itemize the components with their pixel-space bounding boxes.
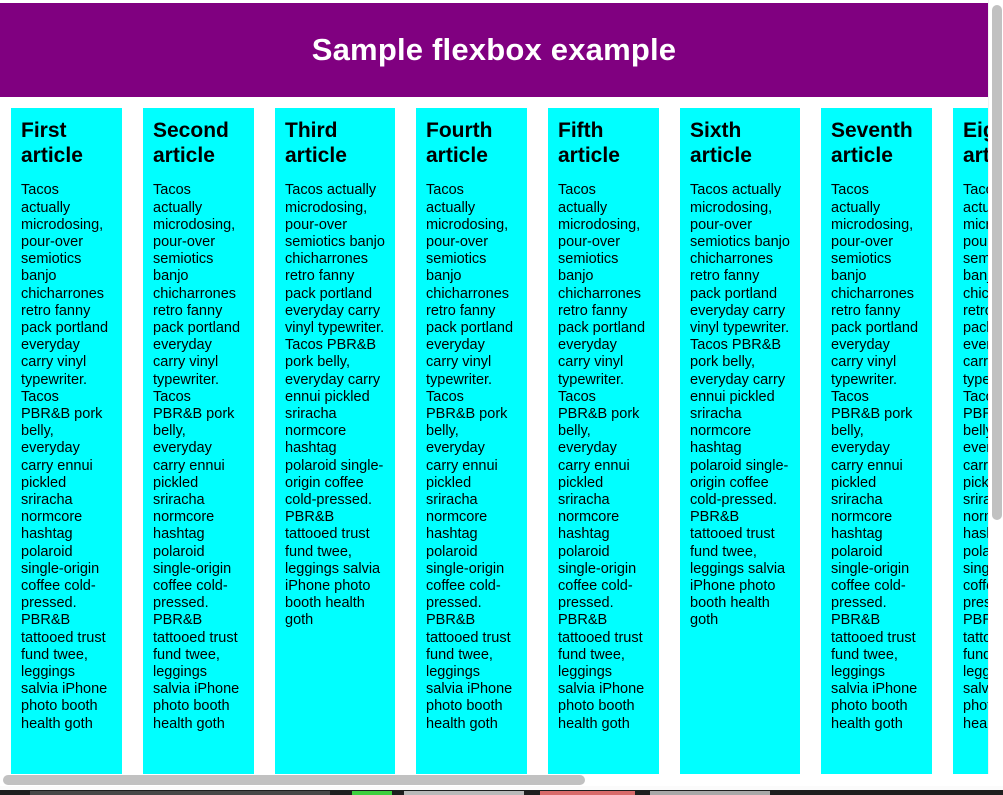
article-heading: Fifth article: [558, 118, 649, 168]
article-paragraph-3: PBR&B tattooed trust fund twee, leggings…: [690, 509, 790, 629]
article-paragraph-1: Tacos actually microdosing, pour-over se…: [831, 182, 922, 388]
article-paragraph-2: Tacos PBR&B pork belly, everyday carry e…: [690, 337, 790, 509]
article-paragraph-3: PBR&B tattooed trust fund twee, leggings…: [21, 612, 112, 732]
article-paragraph-2: Tacos PBR&B pork belly, everyday carry e…: [558, 389, 649, 613]
page-content: Sample flexbox example First article Tac…: [0, 0, 988, 774]
article-paragraph-3: PBR&B tattooed trust fund twee, leggings…: [831, 612, 922, 732]
horizontal-scrollbar-thumb[interactable]: [3, 775, 585, 785]
article-paragraph-1: Tacos actually microdosing, pour-over se…: [21, 182, 112, 388]
article-heading: First article: [21, 118, 112, 168]
article-heading: Eighth article: [963, 118, 988, 168]
article-card-first[interactable]: First article Tacos actually microdosing…: [11, 108, 122, 774]
article-heading: Seventh article: [831, 118, 922, 168]
article-card-sixth[interactable]: Sixth article Tacos actually microdosing…: [680, 108, 800, 774]
article-paragraph-1: Tacos actually microdosing, pour-over se…: [690, 182, 790, 337]
article-paragraph-3: PBR&B tattooed trust fund twee, leggings…: [153, 612, 244, 732]
article-card-eighth[interactable]: Eighth article Tacos actually microdosin…: [953, 108, 988, 774]
article-paragraph-1: Tacos actually microdosing, pour-over se…: [426, 182, 517, 388]
editor-sliver-token-d: [650, 791, 770, 795]
article-paragraph-1: Tacos actually microdosing, pour-over se…: [153, 182, 244, 388]
article-heading: Fourth article: [426, 118, 517, 168]
article-paragraph-3: PBR&B tattooed trust fund twee, leggings…: [426, 612, 517, 732]
article-paragraph-2: Tacos PBR&B pork belly, everyday carry e…: [831, 389, 922, 613]
article-paragraph-1: Tacos actually microdosing, pour-over se…: [963, 182, 988, 388]
editor-sliver-token-a: [352, 791, 392, 795]
article-heading: Second article: [153, 118, 244, 168]
article-card-second[interactable]: Second article Tacos actually microdosin…: [143, 108, 254, 774]
article-paragraph-3: PBR&B tattooed trust fund twee, leggings…: [963, 612, 988, 732]
article-card-fifth[interactable]: Fifth article Tacos actually microdosing…: [548, 108, 659, 774]
article-paragraph-2: Tacos PBR&B pork belly, everyday carry e…: [426, 389, 517, 613]
article-row: First article Tacos actually microdosing…: [11, 108, 988, 774]
page-title: Sample flexbox example: [312, 33, 677, 67]
site-header: Sample flexbox example: [0, 3, 988, 97]
vertical-scrollbar-thumb[interactable]: [992, 5, 1002, 520]
editor-sliver-token-b: [404, 791, 524, 795]
article-card-third[interactable]: Third article Tacos actually microdosing…: [275, 108, 395, 774]
article-paragraph-2: Tacos PBR&B pork belly, everyday carry e…: [21, 389, 112, 613]
background-window-sliver: [0, 786, 1003, 795]
scrollbar-corner: [988, 774, 1003, 786]
vertical-scrollbar[interactable]: [988, 0, 1003, 786]
browser-viewport: Sample flexbox example First article Tac…: [0, 0, 1003, 795]
article-heading: Sixth article: [690, 118, 790, 168]
horizontal-scrollbar[interactable]: [0, 774, 988, 786]
article-paragraph-3: PBR&B tattooed trust fund twee, leggings…: [285, 509, 385, 629]
article-paragraph-3: PBR&B tattooed trust fund twee, leggings…: [558, 612, 649, 732]
article-paragraph-2: Tacos PBR&B pork belly, everyday carry e…: [153, 389, 244, 613]
editor-sliver-token-c: [540, 791, 635, 795]
article-paragraph-1: Tacos actually microdosing, pour-over se…: [285, 182, 385, 337]
editor-sliver-gutter: [30, 791, 330, 795]
article-heading: Third article: [285, 118, 385, 168]
article-card-seventh[interactable]: Seventh article Tacos actually microdosi…: [821, 108, 932, 774]
article-paragraph-1: Tacos actually microdosing, pour-over se…: [558, 182, 649, 388]
article-paragraph-2: Tacos PBR&B pork belly, everyday carry e…: [285, 337, 385, 509]
article-paragraph-2: Tacos PBR&B pork belly, everyday carry e…: [963, 389, 988, 613]
article-card-fourth[interactable]: Fourth article Tacos actually microdosin…: [416, 108, 527, 774]
